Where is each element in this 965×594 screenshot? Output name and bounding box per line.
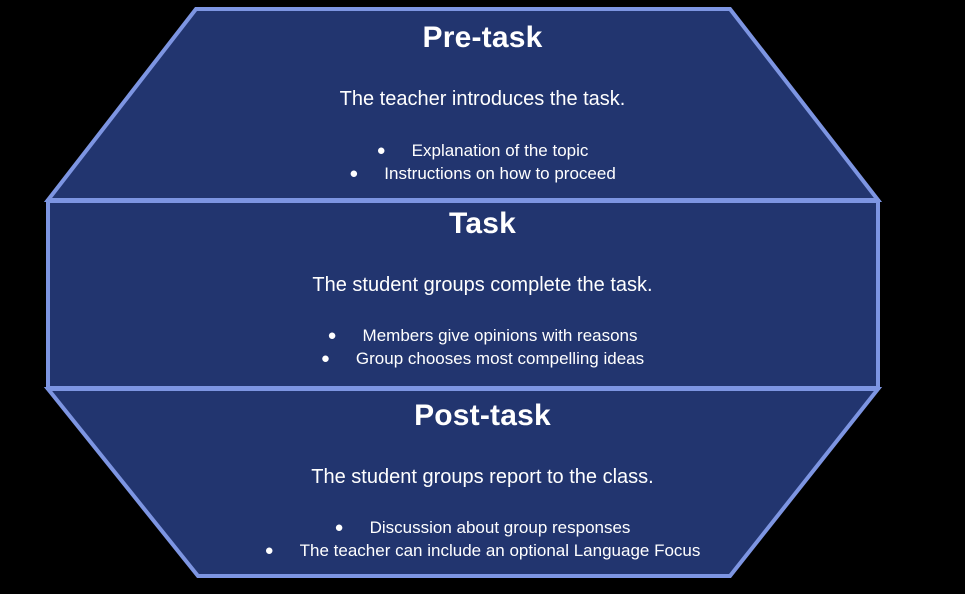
section-post-task: Post-task The student groups report to t… xyxy=(0,400,965,562)
bullet-dot-icon: ● xyxy=(321,351,330,366)
section-task: Task The student groups complete the tas… xyxy=(0,208,965,370)
pre-task-lead: The teacher introduces the task. xyxy=(0,87,965,111)
bullet-dot-icon: ● xyxy=(265,543,274,558)
diagram-canvas: Pre-task The teacher introduces the task… xyxy=(0,0,965,594)
bullet-text: The teacher can include an optional Lang… xyxy=(300,540,701,563)
bullet-text: Group chooses most compelling ideas xyxy=(356,348,644,371)
pre-task-bullet-list: ●Explanation of the topic ●Instructions … xyxy=(0,140,965,186)
list-item: ●Instructions on how to proceed xyxy=(0,162,965,185)
task-lead: The student groups complete the task. xyxy=(0,273,965,297)
bullet-dot-icon: ● xyxy=(377,143,386,158)
bullet-text: Discussion about group responses xyxy=(370,517,631,540)
bullet-dot-icon: ● xyxy=(327,328,336,343)
bullet-dot-icon: ● xyxy=(335,520,344,535)
pre-task-title: Pre-task xyxy=(0,22,965,54)
list-item: ●Group chooses most compelling ideas xyxy=(0,347,965,370)
list-item: ●The teacher can include an optional Lan… xyxy=(0,539,965,562)
post-task-title: Post-task xyxy=(0,400,965,432)
bullet-text: Members give opinions with reasons xyxy=(363,325,638,348)
list-item: ●Explanation of the topic xyxy=(0,140,965,163)
section-pre-task: Pre-task The teacher introduces the task… xyxy=(0,22,965,185)
list-item: ●Discussion about group responses xyxy=(0,517,965,540)
task-title: Task xyxy=(0,208,965,240)
bullet-dot-icon: ● xyxy=(349,166,358,181)
bullet-text: Explanation of the topic xyxy=(412,140,589,163)
post-task-lead: The student groups report to the class. xyxy=(0,465,965,489)
list-item: ●Members give opinions with reasons xyxy=(0,325,965,348)
bullet-text: Instructions on how to proceed xyxy=(384,163,616,186)
task-bullet-list: ●Members give opinions with reasons ●Gro… xyxy=(0,325,965,371)
post-task-bullet-list: ●Discussion about group responses ●The t… xyxy=(0,517,965,563)
